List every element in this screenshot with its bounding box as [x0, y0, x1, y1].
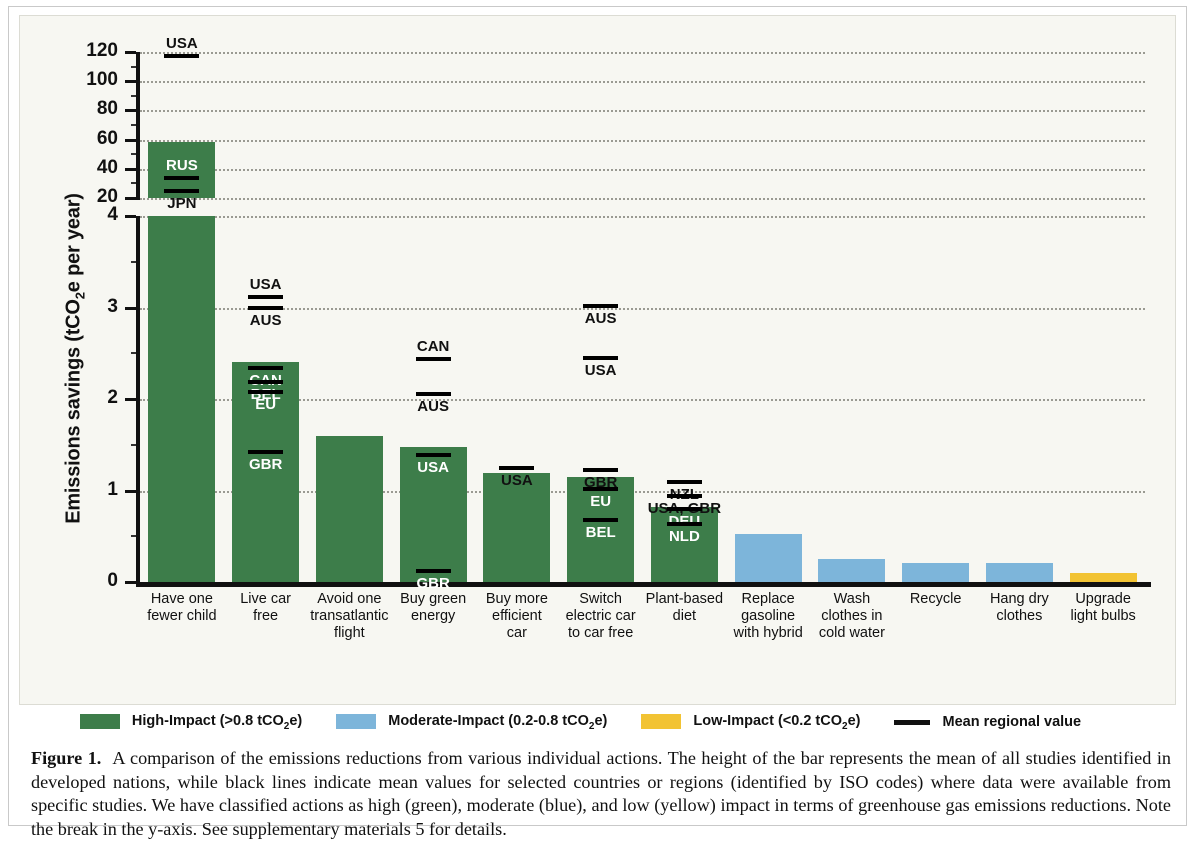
- x-axis-label: Recycle: [888, 591, 984, 608]
- regional-mean-label: AUS: [391, 399, 475, 414]
- y-axis-line: [136, 52, 140, 200]
- y-axis-tick-label: 2: [20, 387, 118, 409]
- regional-mean-marker: [416, 357, 451, 361]
- gridline: [140, 198, 1145, 200]
- y-axis-minor-tick: [131, 535, 136, 537]
- regional-mean-marker: [416, 569, 451, 573]
- y-axis-minor-tick: [131, 66, 136, 68]
- legend-item-high-impact[interactable]: High-Impact (>0.8 tCO2e): [80, 713, 302, 732]
- y-axis-minor-tick: [131, 352, 136, 354]
- regional-mean-marker: [248, 306, 283, 310]
- y-axis-minor-tick: [131, 153, 136, 155]
- legend-label-high-impact: High-Impact (>0.8 tCO2e): [132, 713, 302, 732]
- regional-mean-label: USA: [391, 460, 475, 475]
- x-axis-label: Upgradelight bulbs: [1055, 591, 1151, 625]
- bar: [1070, 573, 1137, 582]
- regional-mean-label: USA: [559, 363, 643, 378]
- legend-label-mean-regional-value: Mean regional value: [942, 714, 1081, 730]
- y-axis-minor-tick: [131, 261, 136, 263]
- regional-mean-marker: [248, 380, 283, 384]
- regional-mean-label: GBR: [224, 457, 308, 472]
- y-axis-tick: [125, 80, 136, 83]
- bar: [316, 436, 383, 582]
- gridline: [140, 216, 1145, 218]
- y-axis-tick: [125, 215, 136, 218]
- x-axis-label: Hang dryclothes: [972, 591, 1068, 625]
- regional-mean-marker: [583, 304, 618, 308]
- bar: [483, 473, 550, 582]
- chart-plot-area: Emissions savings (tCO2e per year) 01234…: [19, 15, 1176, 705]
- regional-mean-marker: [667, 494, 702, 498]
- x-axis-label: Switchelectric carto car free: [553, 591, 649, 642]
- x-axis-label: Plant-baseddiet: [637, 591, 733, 625]
- figure-container: Emissions savings (tCO2e per year) 01234…: [8, 6, 1187, 826]
- regional-mean-marker: [416, 453, 451, 457]
- bar: [818, 559, 885, 582]
- regional-mean-marker: [583, 518, 618, 522]
- y-axis-tick-label: 120: [20, 40, 118, 62]
- regional-mean-label: EU: [224, 397, 308, 412]
- bar: [148, 216, 215, 582]
- y-axis-tick-label: 40: [20, 157, 118, 179]
- regional-mean-label: AUS: [559, 311, 643, 326]
- gridline: [140, 308, 1145, 310]
- y-axis-minor-tick: [131, 124, 136, 126]
- y-axis-tick-label: 100: [20, 69, 118, 91]
- regional-mean-marker: [499, 466, 534, 470]
- regional-mean-marker: [583, 468, 618, 472]
- regional-mean-marker: [667, 507, 702, 511]
- gridline: [140, 110, 1145, 112]
- gridline: [140, 52, 1145, 54]
- gridline: [140, 169, 1145, 171]
- regional-mean-marker: [248, 450, 283, 454]
- regional-mean-label: USA: [140, 36, 224, 51]
- regional-mean-label: AUS: [224, 313, 308, 328]
- gridline: [140, 81, 1145, 83]
- regional-mean-label: USA: [224, 277, 308, 292]
- regional-mean-marker: [248, 366, 283, 370]
- bar: [986, 563, 1053, 582]
- legend-swatch-low-impact: [641, 714, 681, 729]
- y-axis-tick: [125, 581, 136, 584]
- regional-mean-label: CAN: [391, 339, 475, 354]
- x-axis-label: Washclothes incold water: [804, 591, 900, 642]
- legend-label-moderate-impact: Moderate-Impact (0.2-0.8 tCO2e): [388, 713, 607, 732]
- legend-item-mean-regional-value[interactable]: Mean regional value: [894, 714, 1081, 730]
- y-axis-tick: [125, 197, 136, 200]
- y-axis-tick: [125, 307, 136, 310]
- x-axis-label: Live carfree: [218, 591, 314, 625]
- regional-mean-marker: [667, 480, 702, 484]
- x-axis-label: Buy moreefficientcar: [469, 591, 565, 642]
- regional-mean-marker: [248, 295, 283, 299]
- x-axis-label: Have onefewer child: [134, 591, 230, 625]
- figure-caption-text: A comparison of the emissions reductions…: [31, 748, 1171, 839]
- y-axis-tick-label: 0: [20, 570, 118, 592]
- y-axis-tick-label: 20: [20, 186, 118, 208]
- y-axis-tick: [125, 398, 136, 401]
- chart-legend: High-Impact (>0.8 tCO2e)Moderate-Impact …: [19, 707, 1176, 737]
- legend-label-low-impact: Low-Impact (<0.2 tCO2e): [693, 713, 860, 732]
- y-axis-tick: [125, 168, 136, 171]
- legend-line-icon: [894, 720, 930, 725]
- gridline: [140, 140, 1145, 142]
- regional-mean-label: USA: [475, 473, 559, 488]
- regional-mean-marker: [164, 54, 199, 58]
- x-axis-label: Buy greenenergy: [385, 591, 481, 625]
- legend-swatch-high-impact: [80, 714, 120, 729]
- regional-mean-marker: [164, 176, 199, 180]
- legend-item-moderate-impact[interactable]: Moderate-Impact (0.2-0.8 tCO2e): [336, 713, 607, 732]
- regional-mean-label: DEU: [643, 514, 727, 529]
- regional-mean-marker: [416, 392, 451, 396]
- y-axis-tick-label: 1: [20, 479, 118, 501]
- y-axis-tick: [125, 51, 136, 54]
- regional-mean-label: BEL: [559, 525, 643, 540]
- legend-swatch-moderate-impact: [336, 714, 376, 729]
- bar: [735, 534, 802, 582]
- regional-mean-label: EU: [559, 494, 643, 509]
- regional-mean-marker: [583, 487, 618, 491]
- bar: [902, 563, 969, 582]
- figure-caption: Figure 1. A comparison of the emissions …: [31, 747, 1171, 842]
- x-axis-label: Replacegasolinewith hybrid: [720, 591, 816, 642]
- regional-mean-label: RUS: [140, 158, 224, 173]
- y-axis-minor-tick: [131, 182, 136, 184]
- regional-mean-marker: [248, 390, 283, 394]
- y-axis-tick-label: 80: [20, 98, 118, 120]
- figure-label: Figure 1.: [31, 748, 101, 768]
- y-axis-minor-tick: [131, 95, 136, 97]
- x-axis-label: Avoid onetransatlanticflight: [302, 591, 398, 642]
- x-axis-line: [136, 582, 1151, 587]
- regional-mean-marker: [667, 522, 702, 526]
- regional-mean-marker: [583, 356, 618, 360]
- regional-mean-label: NLD: [643, 529, 727, 544]
- y-axis-tick: [125, 139, 136, 142]
- y-axis-minor-tick: [131, 444, 136, 446]
- legend-item-low-impact[interactable]: Low-Impact (<0.2 tCO2e): [641, 713, 860, 732]
- y-axis-tick: [125, 490, 136, 493]
- y-axis-tick: [125, 109, 136, 112]
- regional-mean-label: JPN: [140, 196, 224, 211]
- y-axis-tick-label: 3: [20, 296, 118, 318]
- regional-mean-marker: [164, 189, 199, 193]
- y-axis-tick-label: 60: [20, 128, 118, 150]
- regional-mean-label: GBR: [391, 576, 475, 591]
